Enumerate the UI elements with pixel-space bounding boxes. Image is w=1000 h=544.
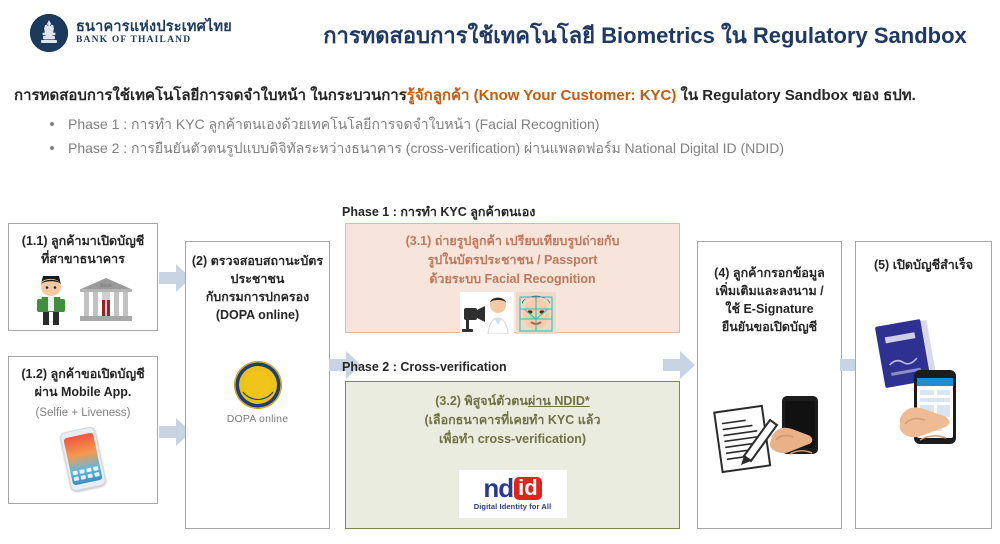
phase-1-box[interactable]: (3.1) ถ่ายรูปลูกค้า เปรียบเทียบรูปถ่ายกั… xyxy=(345,223,680,333)
step-box-5[interactable]: (5) เปิดบัญชีสำเร็จ xyxy=(855,241,992,529)
facial-recognition-illustration xyxy=(346,292,679,339)
step-1-2-line2: ผ่าน Mobile App. xyxy=(9,383,157,401)
step-2-line4: (DOPA online) xyxy=(186,306,329,324)
customer-at-branch-illustration: Bank xyxy=(9,274,157,331)
step-1-1-line1: (1.1) ลูกค้ามาเปิดบัญชี xyxy=(9,232,157,250)
step-3-2-line1: (3.2) พิสูจน์ตัวตนผ่าน NDID* xyxy=(346,392,679,411)
bot-name-th: ธนาคารแห่งประเทศไทย xyxy=(76,20,232,35)
step-1-2-line1: (1.2) ลูกค้าขอเปิดบัญชี xyxy=(9,365,157,383)
bot-name-en: BANK OF THAILAND xyxy=(76,36,232,46)
phase-2-label: Phase 2 : Cross-verification xyxy=(342,360,507,374)
step-3-2-line3: เพื่อทำ cross-verification) xyxy=(346,430,679,449)
page-title: การทดสอบการใช้เทคโนโลยี Biometrics ใน Re… xyxy=(300,18,990,53)
step-4-line3: ใช้ E-Signature xyxy=(698,300,841,318)
ndid-logo-nd: nd xyxy=(483,477,513,500)
ndid-logo-id: id xyxy=(514,477,542,501)
step-box-1-1[interactable]: (1.1) ลูกค้ามาเปิดบัญชี ที่สาขาธนาคาร xyxy=(8,223,158,331)
mobile-selfie-illustration xyxy=(9,429,157,489)
flow-arrow-4 xyxy=(663,351,695,379)
phase-1-label: Phase 1 : การทำ KYC ลูกค้าตนเอง xyxy=(342,202,535,222)
step-3-1-line1: (3.1) ถ่ายรูปลูกค้า เปรียบเทียบรูปถ่ายกั… xyxy=(346,232,679,251)
step-3-2-line2: (เลือกธนาคารที่เคยทำ KYC แล้ว xyxy=(346,411,679,430)
account-opened-illustration xyxy=(856,304,991,489)
dopa-seal-icon xyxy=(235,362,281,408)
step-5-line1: (5) เปิดบัญชีสำเร็จ xyxy=(856,256,991,274)
intro-headline: การทดสอบการใช้เทคโนโลยีการจดจำใบหน้า ในก… xyxy=(14,87,989,106)
intro-headline-highlight: รู้จักลูกค้า (Know Your Customer: KYC) xyxy=(407,87,677,104)
bullet-phase-1: Phase 1 : การทำ KYC ลูกค้าตนเองด้วยเทคโน… xyxy=(14,114,989,136)
step-1-1-line2: ที่สาขาธนาคาร xyxy=(9,250,157,268)
svg-text:Bank: Bank xyxy=(100,283,112,289)
step-3-2-ndid-link[interactable]: ผ่าน NDID* xyxy=(528,394,590,408)
step-2-line2: ประชาชน xyxy=(186,270,329,288)
phase-2-box[interactable]: (3.2) พิสูจน์ตัวตนผ่าน NDID* (เลือกธนาคา… xyxy=(345,381,680,529)
step-4-line4: ยืนยันขอเปิดบัญชี xyxy=(698,318,841,336)
dopa-logo-caption: DOPA online xyxy=(186,413,329,425)
step-3-1-line2: รูปในบัตรประชาชน / Passport xyxy=(346,251,679,270)
intro-block: การทดสอบการใช้เทคโนโลยีการจดจำใบหน้า ในก… xyxy=(14,87,989,163)
intro-bullet-list: Phase 1 : การทำ KYC ลูกค้าตนเองด้วยเทคโน… xyxy=(14,114,989,160)
slide-root: ธนาคารแห่งประเทศไทย BANK OF THAILAND การ… xyxy=(0,0,1000,544)
step-4-line2: เพิ่มเติมและลงนาม / xyxy=(698,282,841,300)
phase-2-text: (3.2) พิสูจน์ตัวตนผ่าน NDID* (เลือกธนาคา… xyxy=(346,382,679,448)
bullet-phase-2: Phase 2 : การยืนยันตัวตนรูปแบบดิจิทัลระห… xyxy=(14,138,989,160)
phase-1-text: (3.1) ถ่ายรูปลูกค้า เปรียบเทียบรูปถ่ายกั… xyxy=(346,224,679,288)
step-box-1-2[interactable]: (1.2) ลูกค้าขอเปิดบัญชี ผ่าน Mobile App.… xyxy=(8,356,158,504)
bot-seal-icon xyxy=(30,14,68,52)
ndid-logo-tagline: Digital Identity for All xyxy=(474,502,552,511)
ndid-logo: nd id Digital Identity for All xyxy=(459,470,567,518)
step-box-2[interactable]: (2) ตรวจสอบสถานะบัตร ประชาชน กับกรมการปก… xyxy=(185,241,330,529)
esignature-illustration xyxy=(698,392,841,487)
smartphone-icon xyxy=(59,426,107,492)
step-2-line3: กับกรมการปกครอง xyxy=(186,288,329,306)
step-3-1-line3: ด้วยระบบ Facial Recognition xyxy=(346,270,679,289)
step-3-2-line1-a: (3.2) พิสูจน์ตัวตน xyxy=(435,394,528,408)
step-box-4[interactable]: (4) ลูกค้ากรอกข้อมูล เพิ่มเติมและลงนาม /… xyxy=(697,241,842,529)
dopa-logo: DOPA online xyxy=(186,362,329,425)
intro-headline-part2: ใน Regulatory Sandbox ของ ธปท. xyxy=(676,87,915,104)
intro-headline-part1: การทดสอบการใช้เทคโนโลยีการจดจำใบหน้า ในก… xyxy=(14,87,407,104)
slide-header: ธนาคารแห่งประเทศไทย BANK OF THAILAND การ… xyxy=(0,0,1000,62)
step-4-line1: (4) ลูกค้ากรอกข้อมูล xyxy=(698,264,841,282)
bank-of-thailand-logo: ธนาคารแห่งประเทศไทย BANK OF THAILAND xyxy=(30,14,232,52)
step-1-2-sub: (Selfie + Liveness) xyxy=(9,405,157,422)
step-2-line1: (2) ตรวจสอบสถานะบัตร xyxy=(186,252,329,270)
bot-name-block: ธนาคารแห่งประเทศไทย BANK OF THAILAND xyxy=(76,20,232,45)
process-flow-diagram: (1.1) ลูกค้ามาเปิดบัญชี ที่สาขาธนาคาร xyxy=(0,196,1000,544)
